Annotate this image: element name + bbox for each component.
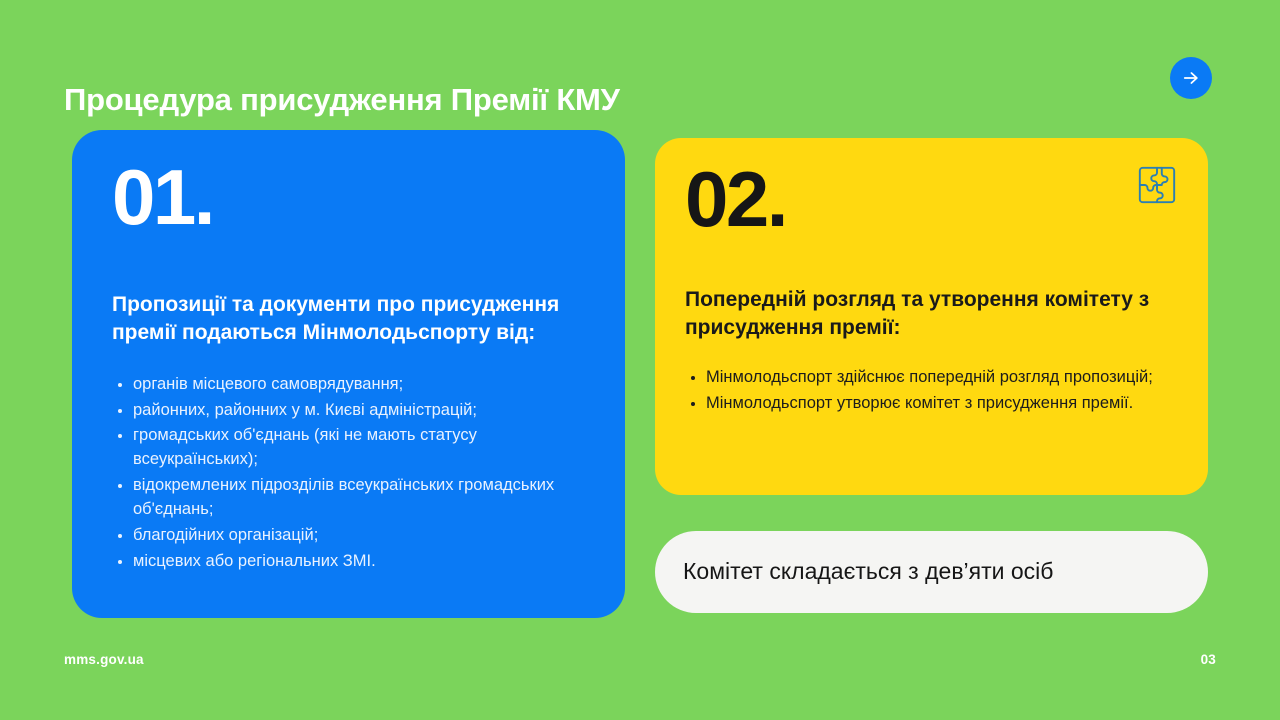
- step-one-heading: Пропозиції та документи про присудження …: [112, 291, 585, 347]
- step-two-number: 02.: [685, 164, 1174, 236]
- list-item: районних, районних у м. Києві адміністра…: [112, 399, 585, 423]
- list-item: місцевих або регіональних ЗМІ.: [112, 550, 585, 574]
- slide-root: Процедура присудження Премії КМУ 01. Про…: [0, 0, 1280, 720]
- committee-note-text: Комітет складається з дев’яти осіб: [683, 558, 1053, 586]
- list-item: громадських об'єднань (які не мають стат…: [112, 424, 585, 472]
- list-item: Мінмолодьспорт утворює комітет з присудж…: [685, 392, 1174, 416]
- list-item: Мінмолодьспорт здійснює попередній розгл…: [685, 366, 1174, 390]
- page-title: Процедура присудження Премії КМУ: [64, 82, 620, 118]
- next-slide-button[interactable]: [1170, 57, 1212, 99]
- footer-page-number: 03: [1201, 652, 1216, 667]
- step-one-number: 01.: [112, 162, 585, 234]
- puzzle-icon: [1136, 164, 1178, 206]
- step-one-bullet-list: органів місцевого самоврядування; районн…: [112, 373, 585, 574]
- list-item: благодійних організацій;: [112, 524, 585, 548]
- step-two-heading: Попередній розгляд та утворення комітету…: [685, 286, 1174, 342]
- footer-website[interactable]: mms.gov.ua: [64, 652, 144, 667]
- list-item: органів місцевого самоврядування;: [112, 373, 585, 397]
- step-two-bullet-list: Мінмолодьспорт здійснює попередній розгл…: [685, 366, 1174, 416]
- list-item: відокремлених підрозділів всеукраїнських…: [112, 474, 585, 522]
- committee-note-card: Комітет складається з дев’яти осіб: [655, 531, 1208, 613]
- arrow-right-icon: [1181, 68, 1201, 88]
- step-card-one: 01. Пропозиції та документи про присудже…: [72, 130, 625, 618]
- step-card-two: 02. Попередній розгляд та утворення комі…: [655, 138, 1208, 495]
